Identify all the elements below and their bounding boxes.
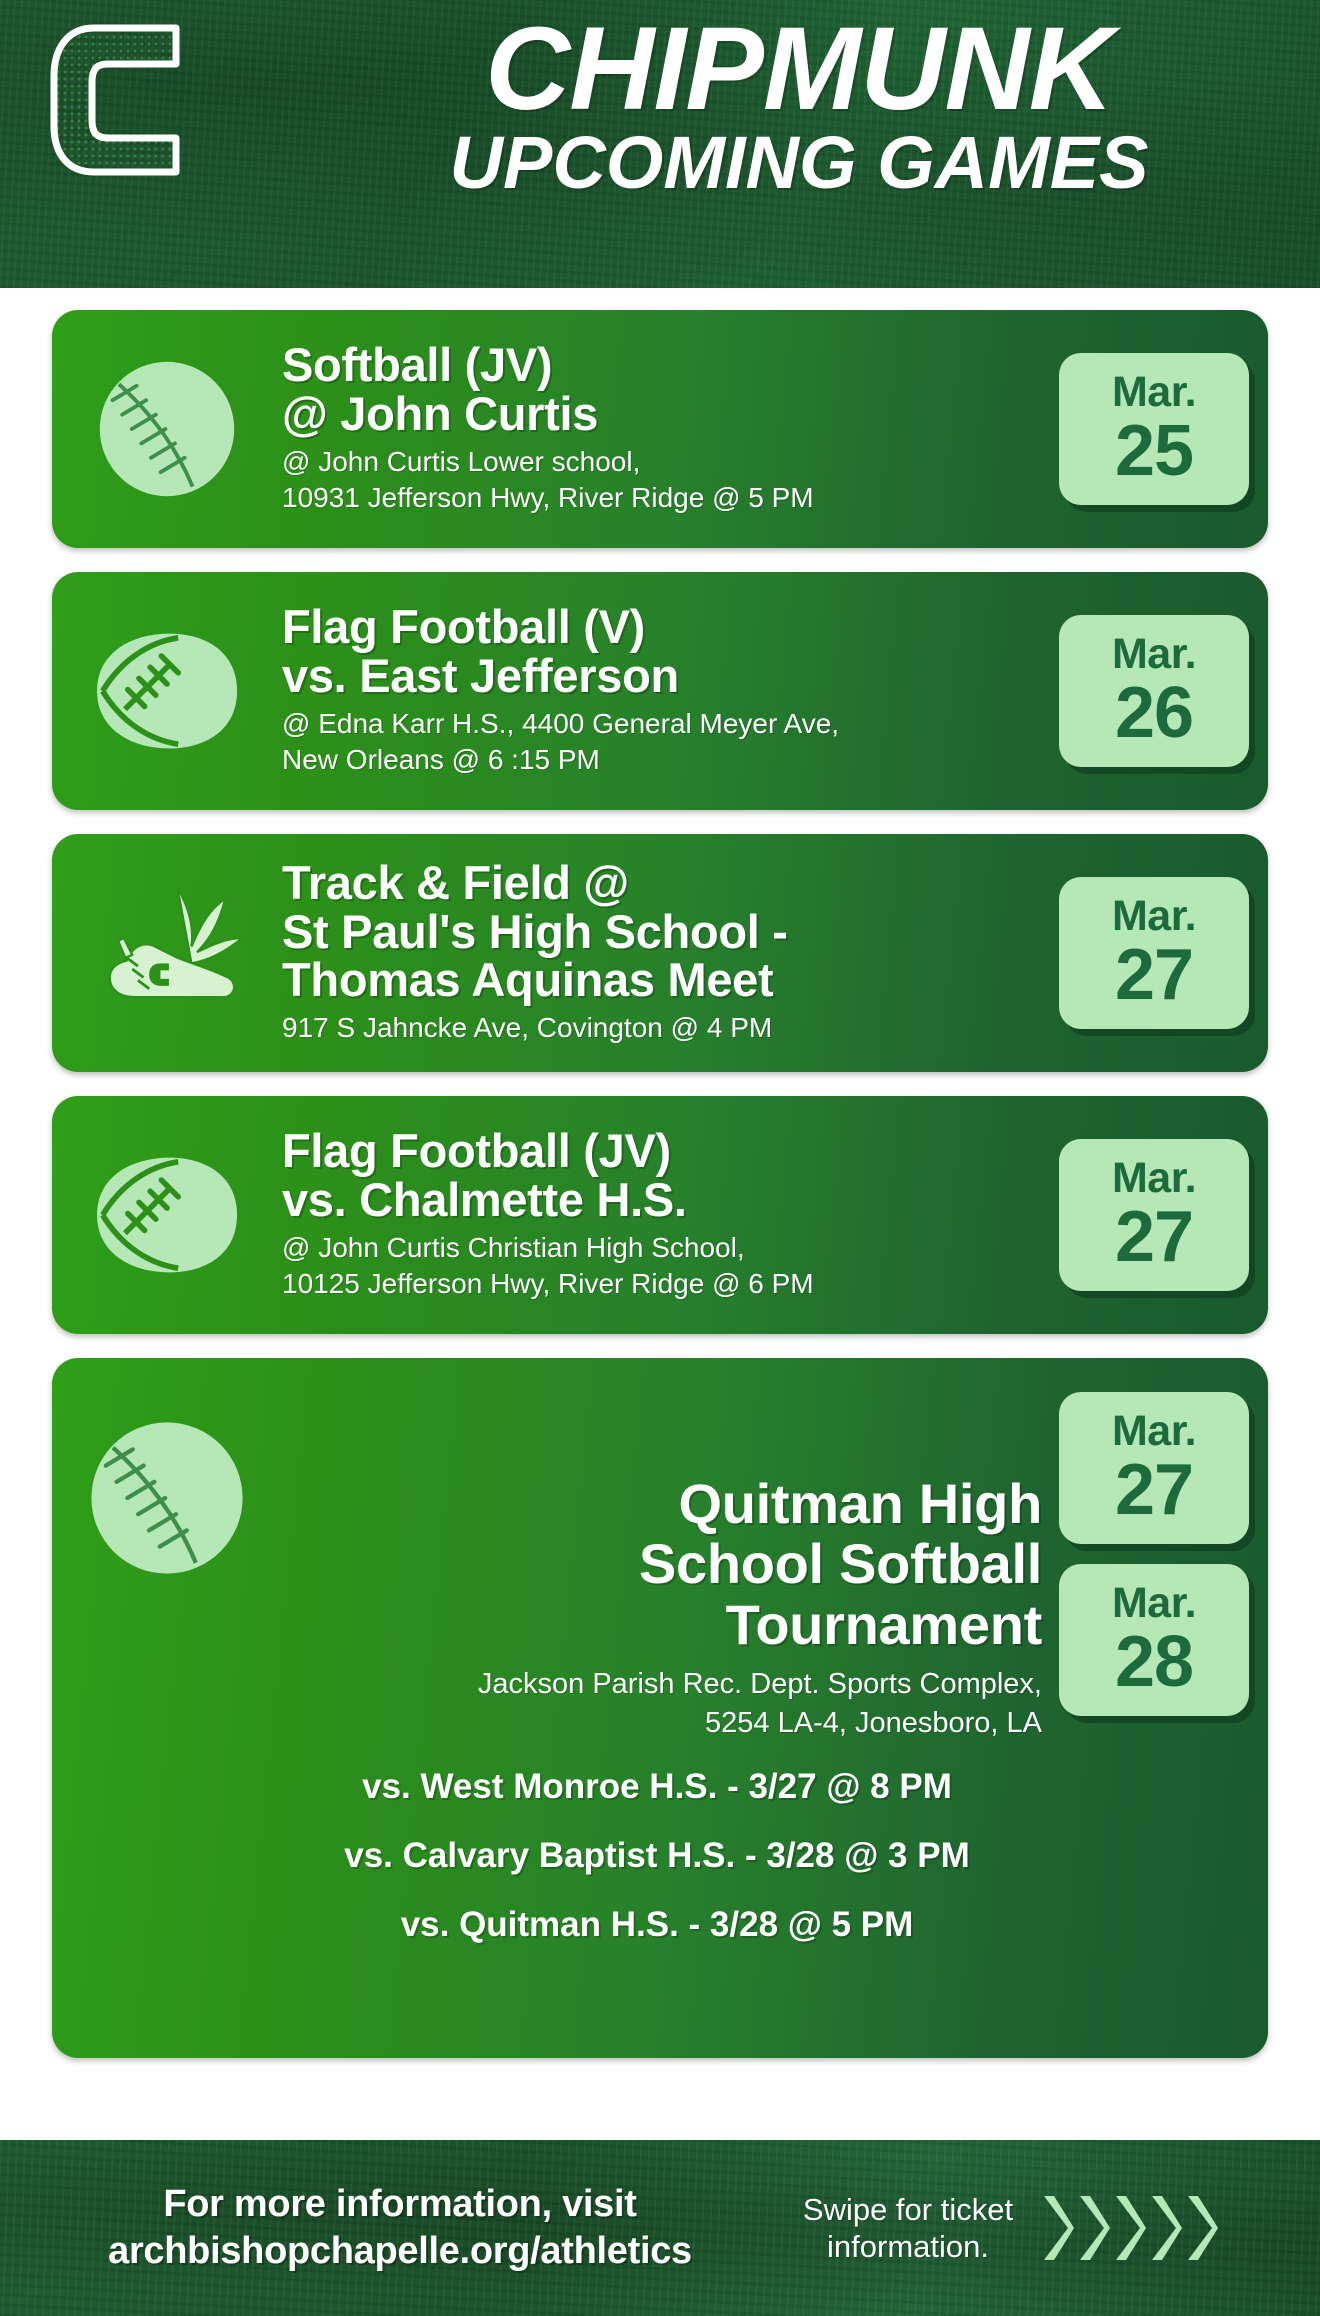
poster-footer: For more information, visit archbishopch… xyxy=(0,2140,1320,2316)
event-location-line: @ John Curtis Lower school, xyxy=(282,444,1042,480)
card-icon-slot xyxy=(52,834,282,1072)
date-month: Mar. xyxy=(1112,1582,1196,1625)
event-title-line: @ John Curtis xyxy=(282,390,1042,438)
softball-icon xyxy=(77,1408,257,1588)
date-badge-group: Mar. 25 xyxy=(1056,310,1268,548)
event-title-line: Track & Field @ xyxy=(282,859,1042,907)
event-location-line: 10931 Jefferson Hwy, River Ridge @ 5 PM xyxy=(282,480,1042,516)
event-title-line: vs. Chalmette H.S. xyxy=(282,1176,1042,1224)
event-details: Softball (JV) @ John Curtis @ John Curti… xyxy=(282,341,1056,517)
chevron-right-icon xyxy=(1112,2192,1146,2264)
event-title: Flag Football (JV) vs. Chalmette H.S. xyxy=(282,1127,1042,1224)
date-badge-group: Mar. 26 xyxy=(1056,572,1268,810)
date-badge-group: Mar. 27 Mar. 28 xyxy=(1056,1358,1268,2058)
event-location-line: 10125 Jefferson Hwy, River Ridge @ 6 PM xyxy=(282,1266,1042,1302)
event-location-line: New Orleans @ 6 :15 PM xyxy=(282,742,1042,778)
event-title: Softball (JV) @ John Curtis xyxy=(282,341,1042,438)
date-day: 25 xyxy=(1115,416,1193,487)
chevron-right-icon xyxy=(1040,2192,1074,2264)
event-card[interactable]: Softball (JV) @ John Curtis @ John Curti… xyxy=(52,310,1268,548)
date-badge[interactable]: Mar. 26 xyxy=(1059,615,1249,767)
event-card[interactable]: Flag Football (JV) vs. Chalmette H.S. @ … xyxy=(52,1096,1268,1334)
date-badge-group: Mar. 27 xyxy=(1056,1096,1268,1334)
event-title-line: Tournament xyxy=(282,1595,1042,1655)
swipe-instruction: Swipe for ticket information. xyxy=(790,2191,1026,2265)
more-info-block: For more information, visit archbishopch… xyxy=(0,2181,790,2276)
event-title-line: St Paul's High School - xyxy=(282,908,1042,956)
page-subtitle: UPCOMING GAMES xyxy=(300,124,1298,202)
event-card[interactable]: Quitman High School Softball Tournament … xyxy=(52,1358,1268,2058)
event-location-line: @ John Curtis Christian High School, xyxy=(282,1230,1042,1266)
event-location: 917 S Jahncke Ave, Covington @ 4 PM xyxy=(282,1010,1042,1046)
chipmunk-c-logo-icon xyxy=(48,20,198,180)
event-card[interactable]: Flag Football (V) vs. East Jefferson @ E… xyxy=(52,572,1268,810)
date-badge[interactable]: Mar. 28 xyxy=(1059,1564,1249,1716)
date-day: 27 xyxy=(1115,940,1193,1011)
event-title-line: Quitman High xyxy=(282,1474,1042,1534)
date-day: 28 xyxy=(1115,1627,1193,1698)
athletics-url[interactable]: archbishopchapelle.org/athletics xyxy=(10,2228,790,2276)
date-badge[interactable]: Mar. 25 xyxy=(1059,353,1249,505)
football-icon xyxy=(83,626,251,756)
tournament-game: vs. West Monroe H.S. - 3/27 @ 8 PM xyxy=(282,1769,1032,1804)
chevron-right-icon-group[interactable] xyxy=(1040,2192,1218,2264)
tournament-game: vs. Quitman H.S. - 3/28 @ 5 PM xyxy=(282,1907,1032,1942)
event-title-line: Flag Football (V) xyxy=(282,603,1042,651)
date-month: Mar. xyxy=(1112,371,1196,414)
event-title-line: Softball (JV) xyxy=(282,341,1042,389)
swipe-line2: information. xyxy=(790,2228,1026,2265)
card-icon-slot xyxy=(52,572,282,810)
event-details: Quitman High School Softball Tournament … xyxy=(282,1474,1056,1943)
date-month: Mar. xyxy=(1112,1410,1196,1453)
date-day: 26 xyxy=(1115,678,1193,749)
events-list: Softball (JV) @ John Curtis @ John Curti… xyxy=(0,288,1320,2082)
event-location-line: @ Edna Karr H.S., 4400 General Meyer Ave… xyxy=(282,706,1042,742)
event-details: Flag Football (JV) vs. Chalmette H.S. @ … xyxy=(282,1127,1056,1303)
event-location-line: 5254 LA-4, Jonesboro, LA xyxy=(282,1704,1042,1743)
date-month: Mar. xyxy=(1112,895,1196,938)
chevron-right-icon xyxy=(1184,2192,1218,2264)
event-location-line: Jackson Parish Rec. Dept. Sports Complex… xyxy=(282,1665,1042,1704)
date-month: Mar. xyxy=(1112,1157,1196,1200)
date-day: 27 xyxy=(1115,1202,1193,1273)
event-title-line: vs. East Jefferson xyxy=(282,652,1042,700)
event-location: @ Edna Karr H.S., 4400 General Meyer Ave… xyxy=(282,706,1042,779)
chevron-right-icon xyxy=(1076,2192,1110,2264)
event-card[interactable]: Track & Field @ St Paul's High School - … xyxy=(52,834,1268,1072)
event-title-line: Thomas Aquinas Meet xyxy=(282,956,1042,1004)
tournament-games-list: vs. West Monroe H.S. - 3/27 @ 8 PM vs. C… xyxy=(282,1769,1042,1942)
event-title-line: Flag Football (JV) xyxy=(282,1127,1042,1175)
card-icon-slot xyxy=(52,310,282,548)
date-badge[interactable]: Mar. 27 xyxy=(1059,877,1249,1029)
event-title: Flag Football (V) vs. East Jefferson xyxy=(282,603,1042,700)
card-icon-slot xyxy=(52,1096,282,1334)
tournament-game: vs. Calvary Baptist H.S. - 3/28 @ 3 PM xyxy=(282,1838,1032,1873)
header-titles: CHIPMUNK UPCOMING GAMES xyxy=(300,10,1298,202)
event-title: Track & Field @ St Paul's High School - … xyxy=(282,859,1042,1004)
swipe-line1: Swipe for ticket xyxy=(790,2191,1026,2228)
chevron-right-icon xyxy=(1148,2192,1182,2264)
event-details: Track & Field @ St Paul's High School - … xyxy=(282,859,1056,1047)
date-month: Mar. xyxy=(1112,633,1196,676)
event-details: Flag Football (V) vs. East Jefferson @ E… xyxy=(282,603,1056,779)
swipe-block: Swipe for ticket information. xyxy=(790,2191,1320,2265)
event-title-line: School Softball xyxy=(282,1534,1042,1594)
football-icon xyxy=(83,1150,251,1280)
date-day: 27 xyxy=(1115,1455,1193,1526)
page-title: CHIPMUNK xyxy=(300,10,1298,128)
date-badge[interactable]: Mar. 27 xyxy=(1059,1392,1249,1544)
poster-root: CHIPMUNK UPCOMING GAMES Sof xyxy=(0,0,1320,2316)
more-info-line1: For more information, visit xyxy=(10,2181,790,2229)
event-location: @ John Curtis Lower school, 10931 Jeffer… xyxy=(282,444,1042,517)
poster-header: CHIPMUNK UPCOMING GAMES xyxy=(0,0,1320,288)
date-badge[interactable]: Mar. 27 xyxy=(1059,1139,1249,1291)
event-location-line: 917 S Jahncke Ave, Covington @ 4 PM xyxy=(282,1010,1042,1046)
event-location: @ John Curtis Christian High School, 101… xyxy=(282,1230,1042,1303)
softball-icon xyxy=(87,349,247,509)
winged-shoe-icon xyxy=(85,876,250,1031)
event-title: Quitman High School Softball Tournament xyxy=(282,1474,1042,1655)
date-badge-group: Mar. 27 xyxy=(1056,834,1268,1072)
card-icon-slot xyxy=(52,1358,282,2058)
event-location: Jackson Parish Rec. Dept. Sports Complex… xyxy=(282,1665,1042,1743)
